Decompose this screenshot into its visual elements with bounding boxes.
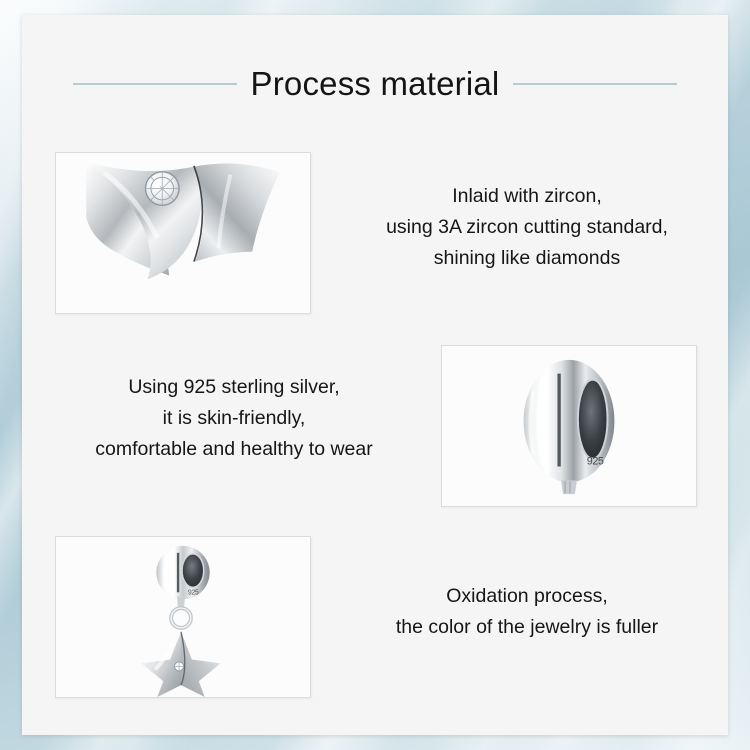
svg-text:925: 925 — [188, 589, 199, 596]
bead-photo-frame: 925 — [441, 345, 697, 507]
star-photo-frame: 925 — [55, 536, 311, 698]
silver-star-zircon-closeup-icon — [56, 153, 310, 313]
zircon-photo-frame — [55, 152, 311, 314]
star-caption-line-1: Oxidation process, — [342, 581, 712, 612]
zircon-caption: Inlaid with zircon, using 3A zircon cutt… — [347, 181, 707, 273]
svg-text:925: 925 — [587, 456, 604, 468]
zircon-caption-line-1: Inlaid with zircon, — [347, 181, 707, 212]
bead-caption-line-2: it is skin-friendly, — [44, 403, 424, 434]
silver-spacer-bead-icon: 925 — [442, 346, 696, 506]
zircon-caption-line-3: shining like diamonds — [347, 243, 707, 274]
content-panel: Process material — [22, 15, 728, 735]
bead-caption: Using 925 sterling silver, it is skin-fr… — [44, 372, 424, 464]
page-header: Process material — [22, 67, 728, 100]
star-caption: Oxidation process, the color of the jewe… — [342, 581, 712, 643]
bead-caption-line-3: comfortable and healthy to wear — [44, 434, 424, 465]
page-title: Process material — [251, 67, 500, 100]
heading-rule-left — [73, 83, 237, 85]
zircon-caption-line-2: using 3A zircon cutting standard, — [347, 212, 707, 243]
bead-caption-line-1: Using 925 sterling silver, — [44, 372, 424, 403]
star-caption-line-2: the color of the jewelry is fuller — [342, 612, 712, 643]
heading-rule-right — [513, 83, 677, 85]
silver-star-dangle-charm-icon: 925 — [56, 537, 310, 697]
